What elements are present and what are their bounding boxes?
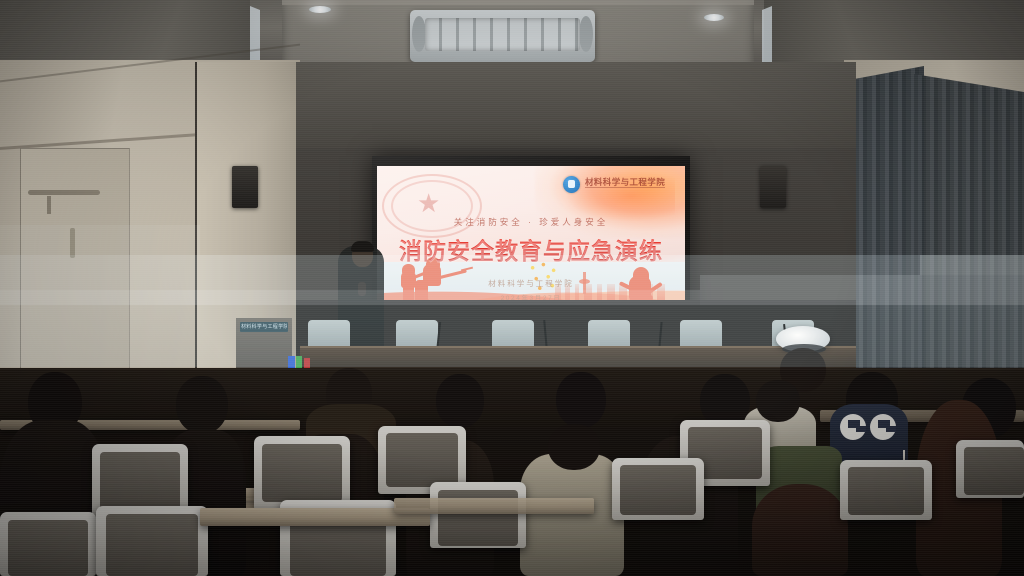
slide-kicker: 关注消防安全 · 珍爱人身安全 (377, 216, 685, 228)
ac-vent-left (412, 16, 426, 52)
audience-chair-back (100, 452, 180, 514)
audience-chair-back (848, 467, 924, 515)
podium-sign-text: 材料科学与工程学院 (241, 323, 287, 330)
audience-head (548, 424, 600, 470)
gg-letter-left-cut (856, 426, 866, 432)
audience-head (756, 380, 800, 422)
stage-table (300, 348, 856, 370)
stage-chair (308, 320, 350, 348)
audience-desk (394, 498, 594, 514)
lecture-hall-photo: ★ 材料科学与工程学院 关注消防安全 · 珍爱人身安全 消防安全教育与应急演练 … (0, 0, 1024, 576)
curtain-right-panel (914, 74, 1024, 374)
presenter-hair (351, 241, 374, 252)
door-handle-stem (47, 196, 51, 214)
audience-head (176, 376, 228, 434)
slide-organizer: 材料科学与工程学院 (377, 278, 685, 289)
downlight-icon (704, 14, 724, 21)
handheld-microphone-icon (358, 282, 366, 296)
audience-cream-coat (520, 454, 624, 576)
long-hair-person (752, 484, 848, 576)
audience-chair-back (964, 447, 1024, 495)
av-indicator-light (304, 358, 310, 368)
university-emblem-mark (568, 180, 575, 188)
wall-center-upper (296, 62, 856, 148)
audience-chair-back (620, 465, 696, 515)
stage-chair (588, 320, 630, 348)
stage-chair (492, 320, 534, 348)
gg-letter-right-cut (886, 426, 896, 432)
slide-title: 消防安全教育与应急演练 (377, 232, 685, 266)
downlight-icon (309, 6, 331, 13)
door-lever-handle[interactable] (70, 228, 75, 258)
audience-head (436, 374, 484, 428)
ac-vent-right (579, 16, 593, 52)
stage-chair (680, 320, 722, 348)
door-handle-bar[interactable] (28, 190, 100, 195)
audience-chair-back (106, 514, 198, 576)
audience-chair-back (8, 520, 88, 576)
ceiling-recess-lip (282, 0, 754, 5)
ac-grille (425, 18, 580, 51)
door[interactable] (20, 148, 130, 390)
audience-head (556, 372, 606, 428)
audience-chair-back (262, 444, 342, 502)
audience-chair-back (386, 433, 458, 487)
wall-speaker-left (232, 166, 258, 208)
wall-speaker-right (760, 166, 786, 208)
university-name-rule (585, 187, 665, 188)
stage-chair (396, 320, 438, 348)
